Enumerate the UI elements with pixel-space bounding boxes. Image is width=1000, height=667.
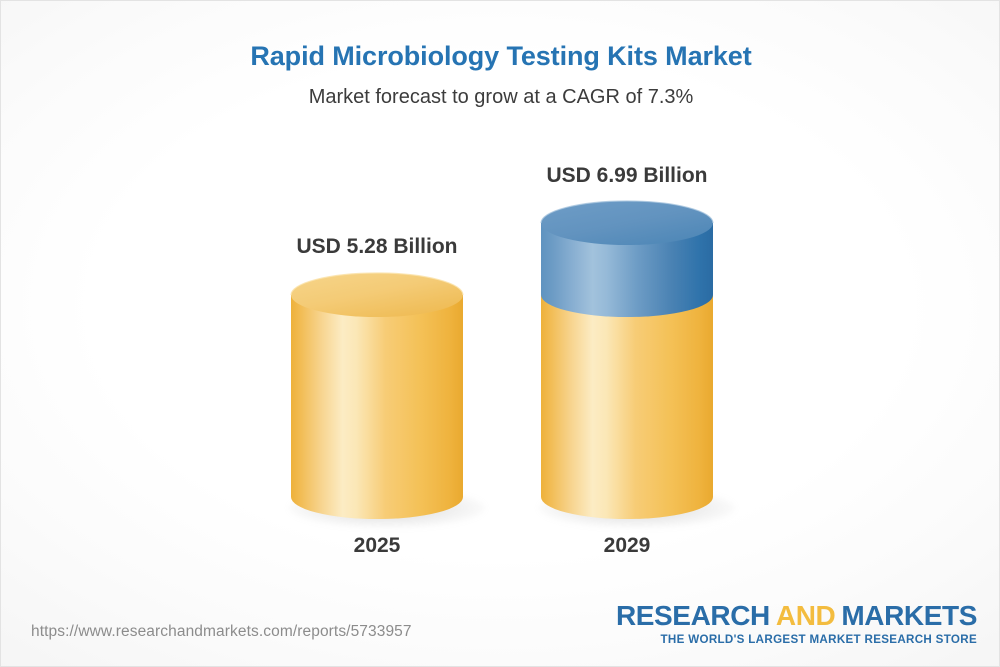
bar-category-label-2025: 2025	[277, 534, 477, 558]
research-and-markets-logo[interactable]: RESEARCHANDMARKETS THE WORLD'S LARGEST M…	[616, 601, 977, 647]
bar-value-label-2025: USD 5.28 Billion	[277, 235, 477, 259]
logo-wordmark: RESEARCHANDMARKETS	[616, 601, 977, 631]
logo-word-and: AND	[776, 600, 835, 631]
infographic-canvas: Rapid Microbiology Testing Kits Market M…	[0, 0, 1000, 667]
bar-category-label-2029: 2029	[527, 534, 727, 558]
logo-word-research: RESEARCH	[616, 600, 770, 631]
bar-value-label-2029: USD 6.99 Billion	[527, 164, 727, 188]
chart-plot-area: USD 5.28 Billion 2025	[1, 1, 1000, 667]
bar-cylinder-2025[interactable]	[287, 271, 467, 523]
report-url[interactable]: https://www.researchandmarkets.com/repor…	[31, 623, 412, 641]
bar-cylinder-2029[interactable]	[537, 199, 717, 523]
logo-tagline: THE WORLD'S LARGEST MARKET RESEARCH STOR…	[616, 633, 977, 647]
logo-word-markets: MARKETS	[841, 600, 977, 631]
